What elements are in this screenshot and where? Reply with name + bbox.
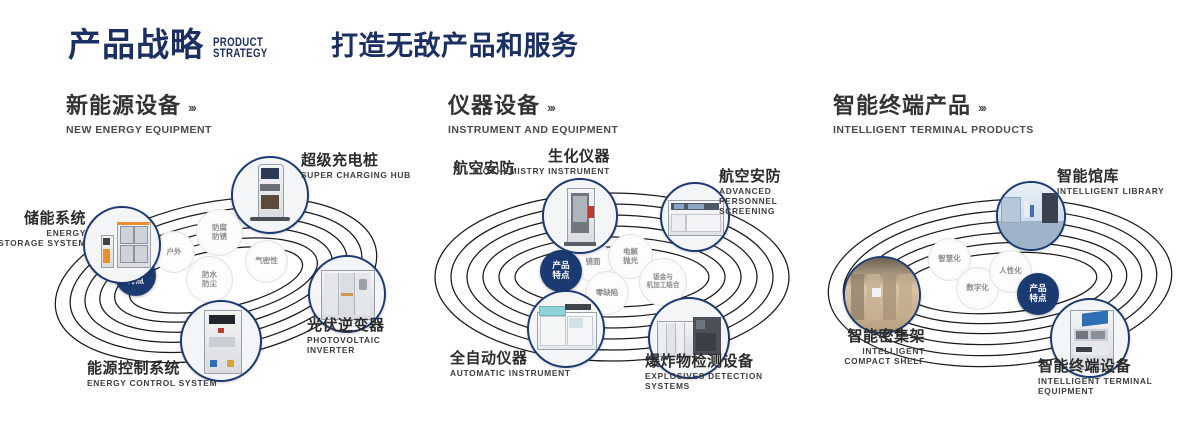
compact-shelf-photo-icon: [845, 258, 919, 332]
feature-bubble: 气密性: [245, 240, 288, 283]
core-line-1: 产品: [552, 261, 569, 271]
node-label-terminal-equipment: 智能终端设备 INTELLIGENT TERMINAL EQUIPMENT: [1038, 358, 1195, 396]
product-node-biochemistry-instrument[interactable]: [542, 178, 618, 254]
page-subtitle: 打造无敌产品和服务: [331, 33, 579, 60]
product-node-energy-storage[interactable]: [83, 206, 161, 284]
section-heading-new-energy: 新能源设备››› NEW ENERGY EQUIPMENT: [66, 95, 212, 136]
section-title-en: NEW ENERGY EQUIPMENT: [66, 124, 212, 136]
section-heading-instrument: 仪器设备››› INSTRUMENT AND EQUIPMENT: [448, 95, 618, 136]
chevrons-right-icon: ›››: [188, 100, 195, 115]
chevrons-right-icon: ›››: [978, 100, 985, 115]
section-title-en: INTELLIGENT TERMINAL PRODUCTS: [833, 124, 1034, 136]
product-node-intelligent-library[interactable]: [996, 181, 1066, 251]
feature-bubble: 防水 防尘: [186, 256, 233, 303]
section-title-cn: 智能终端产品: [833, 95, 971, 119]
energy-storage-cabinet-icon: [85, 208, 159, 282]
node-label-biochemistry-instrument: 生化仪器 BIOCHEMISTRY INSTRUMENT: [435, 148, 610, 176]
page-title-en: PRODUCT STRATEGY: [213, 38, 268, 60]
cluster-instrument-and-equipment: 镜面 电解 抛光 零缺陷 钣金与 机加工结合 产品 特点: [405, 150, 805, 400]
core-line-2: 特点: [552, 271, 569, 281]
feature-core-bubble: 产品 特点: [540, 250, 582, 292]
product-node-charging-pile[interactable]: [231, 156, 309, 234]
library-interior-photo-icon: [998, 183, 1064, 249]
poster-canvas: 产品战略 PRODUCT STRATEGY 打造无敌产品和服务 新能源设备›››…: [0, 0, 1200, 422]
section-heading-intelligent: 智能终端产品››› INTELLIGENT TERMINAL PRODUCTS: [833, 95, 1034, 136]
node-label-pv-inverter: 光伏逆变器 PHOTOVOLTAIC INVERTER: [307, 317, 420, 355]
node-label-energy-control: 能源控制系统 ENERGY CONTROL SYSTEM: [87, 360, 217, 388]
node-label-compact-shelf: 智能密集架 INTELLIGENT COMPACT SHELF: [815, 328, 925, 366]
node-label-explosives-detection: 爆炸物检测设备 EXPLOSIVES DETECTION SYSTEMS: [645, 353, 805, 391]
security-scanner-gate-icon: [544, 180, 616, 252]
charging-pile-icon: [233, 158, 307, 232]
node-label-energy-storage: 储能系统 ENERGY STORAGE SYSTEM: [0, 210, 86, 248]
section-title-cn: 仪器设备: [448, 95, 540, 119]
node-label-automatic-instrument: 全自动仪器 AUTOMATIC INSTRUMENT: [450, 350, 571, 378]
core-line-2: 特点: [1029, 294, 1046, 304]
core-line-1: 产品: [1029, 284, 1046, 294]
section-title-cn: 新能源设备: [66, 95, 181, 119]
product-node-compact-shelf[interactable]: [843, 256, 921, 334]
page-title: 产品战略: [68, 28, 204, 61]
node-label-intelligent-library: 智能馆库 INTELLIGENT LIBRARY: [1057, 168, 1164, 196]
cluster-new-energy-equipment: 户外 防腐 防锈 防水 防尘 气密性 产品 特点: [20, 150, 420, 400]
cluster-intelligent-terminal-products: 智慧化 数字化 人性化 产品 特点: [795, 150, 1195, 400]
section-title-en: INSTRUMENT AND EQUIPMENT: [448, 124, 618, 136]
chevrons-right-icon: ›››: [547, 100, 554, 115]
poster-title-block: 产品战略 PRODUCT STRATEGY: [68, 28, 278, 61]
